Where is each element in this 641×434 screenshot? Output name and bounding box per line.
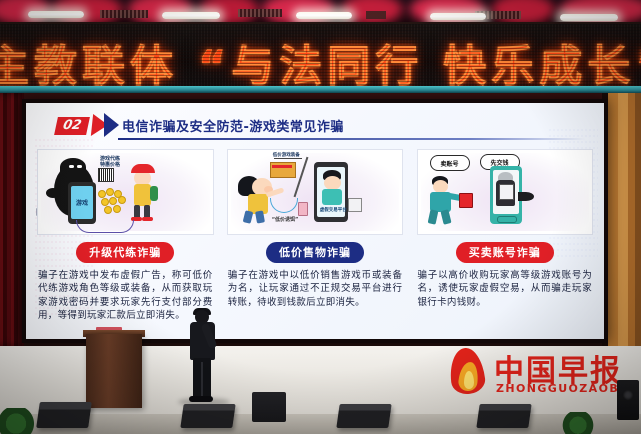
column-1-pill: 升级代练诈骗 (76, 242, 174, 263)
stage-edge (0, 414, 641, 434)
illustration-1: 游戏 游戏代练 特惠价格 (37, 149, 214, 235)
floor-speaker (617, 380, 639, 420)
column-2-body: 骗子在游戏中以低价销售游戏币或装备为名，让玩家通过不正规交易平台进行转账，待收到… (228, 269, 403, 309)
stage-monitor (180, 404, 235, 428)
ceiling-tube-light (296, 12, 352, 19)
led-scrolling-banner: 主教联体 “与法同行 快乐成长” 法治 (0, 22, 641, 88)
illus-note-2: 特惠价格 (100, 161, 120, 168)
stage-curtain-left (0, 93, 24, 346)
photo-scene: 主教联体 “与法同行 快乐成长” 法治 02 电信诈骗及安全防范-游戏类常见诈骗 (0, 0, 641, 434)
slide-column-3: 卖账号 先交钱 (418, 149, 593, 339)
speech-bubble-left: 卖账号 (430, 155, 470, 171)
ceiling-tube-light (430, 13, 486, 20)
potted-plant (0, 408, 36, 434)
presenter-leg-split (201, 362, 203, 396)
subwoofer (252, 392, 286, 422)
hook-label: “低价诱饵” (272, 216, 299, 223)
led-banner-text: 主教联体 “与法同行 快乐成长” 法治 (0, 32, 641, 88)
ceiling-tube-light (560, 14, 618, 21)
stage-monitor (336, 404, 391, 428)
title-underline (118, 138, 586, 140)
column-3-body: 骗子以高价收购玩家高等级游戏账号为名，诱使玩家虚假空易，从而骗走玩家银行卡内钱财… (418, 269, 593, 309)
fake-platform-label: 虚假交易平台 (320, 207, 347, 213)
ceiling-tube-light (28, 11, 84, 18)
phone-screen-label: 游戏 (76, 198, 88, 207)
section-number-badge: 02 (54, 117, 90, 135)
potted-plant (561, 412, 595, 434)
column-2-pill: 低价售物诈骗 (266, 242, 364, 263)
slide-header: 02 电信诈骗及安全防范-游戏类常见诈骗 (26, 113, 604, 143)
slide-column-2: 低价游戏装备 “低价诱饵” 虚假交易平台 低价售物 (228, 149, 403, 339)
stage-monitor (36, 402, 92, 428)
illustration-3: 卖账号 先交钱 (417, 149, 594, 235)
lectern (86, 334, 142, 408)
slide-columns: 游戏 游戏代练 特惠价格 (26, 149, 604, 339)
presenter-shoes (189, 396, 213, 402)
flame-logo-icon (446, 348, 488, 396)
ceiling-tube-light (162, 12, 220, 19)
watermark-logo: 中国早报 ZHONGGUOZAOBAO (446, 344, 636, 404)
illustration-2: 低价游戏装备 “低价诱饵” 虚假交易平台 (227, 149, 404, 235)
column-3-pill: 买卖账号诈骗 (456, 242, 554, 263)
slide-title: 电信诈骗及安全防范-游戏类常见诈骗 (122, 116, 344, 135)
speaker-cone (623, 390, 633, 400)
bait-box-label: 低价游戏装备 (273, 152, 300, 158)
stage-monitor (476, 404, 531, 428)
presentation-slide: 02 电信诈骗及安全防范-游戏类常见诈骗 (26, 103, 604, 339)
presenter (186, 310, 220, 402)
projection-screen: 02 电信诈骗及安全防范-游戏类常见诈骗 (22, 99, 608, 343)
banner-trim (0, 86, 641, 93)
arrow-blue-icon (104, 113, 119, 137)
